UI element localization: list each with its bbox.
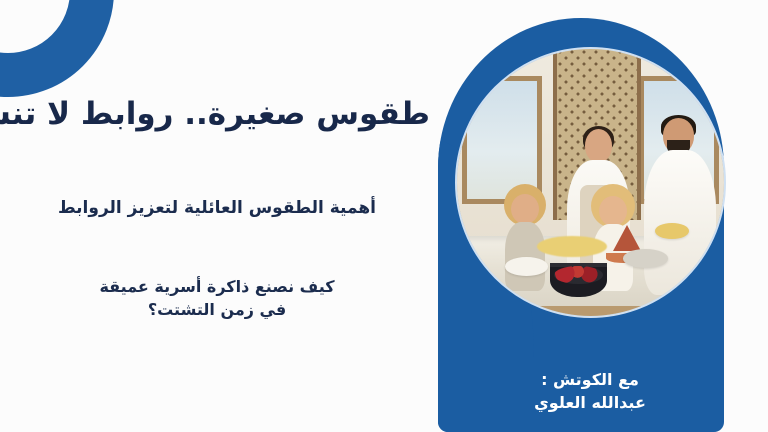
berries (554, 266, 603, 284)
plate-left (505, 257, 548, 276)
family-photo-image (457, 49, 724, 316)
berry-bowl (550, 263, 606, 298)
corner-ring-decoration (0, 0, 114, 97)
coach-label: مع الكوتش : (470, 368, 710, 391)
plate-right (623, 249, 668, 268)
family-photo-circle (455, 47, 726, 318)
tagine-lid (613, 225, 641, 251)
plate-back (655, 223, 690, 239)
mother-head (585, 129, 613, 163)
headline-title: طقوس صغيرة.. روابط لا تنسى (6, 96, 430, 133)
coach-credit: مع الكوتش : عبدالله العلوي (470, 368, 710, 414)
question-line-2: في زمن التشتت؟ (18, 298, 416, 321)
subtitle-text: أهمية الطقوس العائلية لتعزيز الروابط (18, 198, 416, 219)
father-figure (644, 118, 716, 294)
question-text: كيف نصنع ذاكرة أسرية عميقة في زمن التشتت… (18, 275, 416, 321)
father-body (644, 150, 716, 294)
food-pile (537, 236, 606, 257)
counter-cabinet (457, 306, 724, 316)
question-line-1: كيف نصنع ذاكرة أسرية عميقة (18, 275, 416, 298)
promo-slide: طقوس صغيرة.. روابط لا تنسى أهمية الطقوس … (0, 0, 768, 432)
coach-name: عبدالله العلوي (470, 391, 710, 414)
kitchen-scene (457, 49, 724, 316)
